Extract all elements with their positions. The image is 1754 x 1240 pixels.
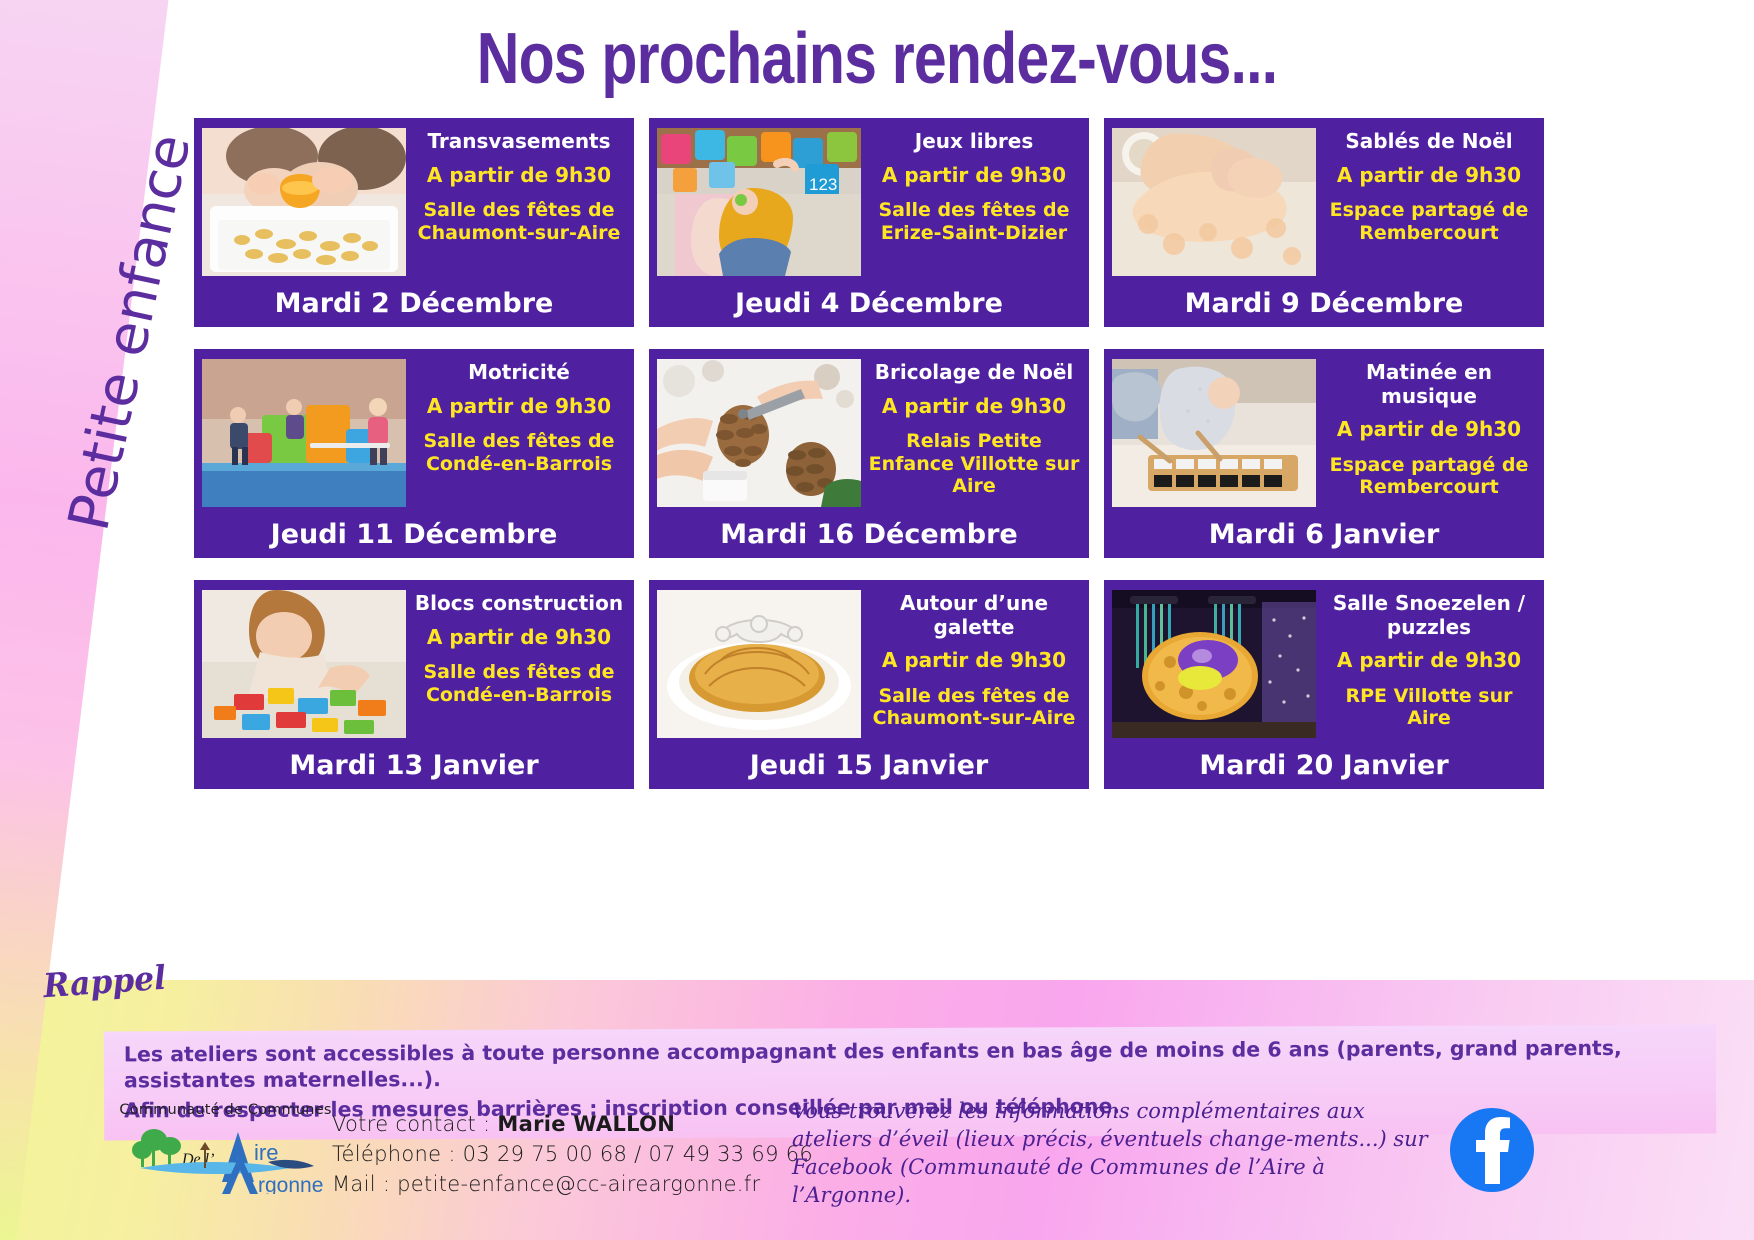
page-title: Nos prochains rendez-vous...: [158, 18, 1596, 100]
card-image-blocs-construction: [202, 590, 406, 738]
card-date: Mardi 13 Janvier: [202, 750, 626, 781]
card-place: Salle des fêtes de Chaumont-sur-Aire: [412, 199, 626, 244]
card-activity: Transvasements: [412, 130, 626, 154]
card-date: Mardi 6 Janvier: [1112, 519, 1536, 550]
card-date: Mardi 9 Décembre: [1112, 288, 1536, 319]
activities-row: Blocs construction A partir de 9h30 Sall…: [194, 580, 1544, 789]
card-place: Relais Petite Enfance Villotte sur Aire: [867, 430, 1081, 497]
card-hour: A partir de 9h30: [867, 649, 1081, 673]
card-date: Mardi 16 Décembre: [657, 519, 1081, 550]
activities-row: Transvasements A partir de 9h30 Salle de…: [194, 118, 1544, 327]
facebook-note: Vous trouverez les informations compléme…: [792, 1098, 1432, 1210]
card-date: Mardi 20 Janvier: [1112, 750, 1536, 781]
activity-card[interactable]: 123: [649, 118, 1089, 327]
activities-grid: Transvasements A partir de 9h30 Salle de…: [194, 118, 1544, 811]
card-date: Jeudi 11 Décembre: [202, 519, 626, 550]
activity-card[interactable]: Bricolage de Noël A partir de 9h30 Relai…: [649, 349, 1089, 558]
card-hour: A partir de 9h30: [867, 395, 1081, 419]
card-image-galette: [657, 590, 861, 738]
card-activity: Jeux libres: [867, 130, 1081, 154]
card-activity: Blocs construction: [412, 592, 626, 616]
card-image-snoezelen: [1112, 590, 1316, 738]
activity-card[interactable]: Salle Snoezelen / puzzles A partir de 9h…: [1104, 580, 1544, 789]
activity-card[interactable]: Transvasements A partir de 9h30 Salle de…: [194, 118, 634, 327]
card-activity: Sablés de Noël: [1322, 130, 1536, 154]
contact-block: Votre contact : Marie WALLON Téléphone :…: [332, 1110, 813, 1199]
notice-line-1: Les ateliers sont accessibles à toute pe…: [124, 1035, 1702, 1094]
logo-org-name: Communauté de Communes: [118, 1102, 333, 1118]
card-activity: Bricolage de Noël: [867, 361, 1081, 385]
card-place: Salle des fêtes de Condé-en-Barrois: [412, 430, 626, 475]
card-hour: A partir de 9h30: [1322, 649, 1536, 673]
card-hour: A partir de 9h30: [867, 164, 1081, 188]
card-hour: A partir de 9h30: [1322, 418, 1536, 442]
card-place: Salle des fêtes de Chaumont-sur-Aire: [867, 685, 1081, 730]
card-date: Jeudi 4 Décembre: [657, 288, 1081, 319]
card-image-motricite: [202, 359, 406, 507]
activity-card[interactable]: Blocs construction A partir de 9h30 Sall…: [194, 580, 634, 789]
card-place: RPE Villotte sur Aire: [1322, 685, 1536, 730]
card-image-transvasements: [202, 128, 406, 276]
card-image-bricolage-de-noel: [657, 359, 861, 507]
svg-text:123: 123: [809, 175, 837, 194]
activity-card[interactable]: Autour d’une galette A partir de 9h30 Sa…: [649, 580, 1089, 789]
cc-aire-argonne-logo: Communauté de Communes De l’ ire: [118, 1102, 333, 1194]
card-place: Espace partagé de Rembercourt: [1322, 454, 1536, 499]
contact-person: Marie WALLON: [497, 1112, 675, 1136]
logo-mark: De l’ ire rgonne: [118, 1120, 333, 1194]
card-activity: Autour d’une galette: [867, 592, 1081, 639]
footer: Communauté de Communes De l’ ire: [0, 1098, 1754, 1240]
poster-root: Nos prochains rendez-vous... Petite enfa…: [0, 0, 1754, 1240]
card-place: Salle des fêtes de Erize-Saint-Dizier: [867, 199, 1081, 244]
card-activity: Motricité: [412, 361, 626, 385]
card-place: Espace partagé de Rembercourt: [1322, 199, 1536, 244]
card-image-jeux-libres: 123: [657, 128, 861, 276]
card-place: Salle des fêtes de Condé-en-Barrois: [412, 661, 626, 706]
facebook-icon[interactable]: [1448, 1106, 1536, 1194]
contact-line-name: Votre contact : Marie WALLON: [332, 1110, 813, 1140]
card-image-matinee-en-musique: [1112, 359, 1316, 507]
activity-card[interactable]: Sablés de Noël A partir de 9h30 Espace p…: [1104, 118, 1544, 327]
activity-card[interactable]: Motricité A partir de 9h30 Salle des fêt…: [194, 349, 634, 558]
card-hour: A partir de 9h30: [1322, 164, 1536, 188]
card-hour: A partir de 9h30: [412, 395, 626, 419]
card-activity: Salle Snoezelen / puzzles: [1322, 592, 1536, 639]
card-date: Mardi 2 Décembre: [202, 288, 626, 319]
svg-text:rgonne: rgonne: [258, 1174, 323, 1194]
card-hour: A partir de 9h30: [412, 626, 626, 650]
card-image-sables-de-noel: [1112, 128, 1316, 276]
card-activity: Matinée en musique: [1322, 361, 1536, 408]
activities-row: Motricité A partir de 9h30 Salle des fêt…: [194, 349, 1544, 558]
card-hour: A partir de 9h30: [412, 164, 626, 188]
contact-label: Votre contact :: [332, 1112, 497, 1136]
contact-phone: Téléphone : 03 29 75 00 68 / 07 49 33 69…: [332, 1140, 813, 1170]
contact-mail: Mail : petite-enfance@cc-aireargonne.fr: [332, 1170, 813, 1200]
activity-card[interactable]: Matinée en musique A partir de 9h30 Espa…: [1104, 349, 1544, 558]
card-date: Jeudi 15 Janvier: [657, 750, 1081, 781]
